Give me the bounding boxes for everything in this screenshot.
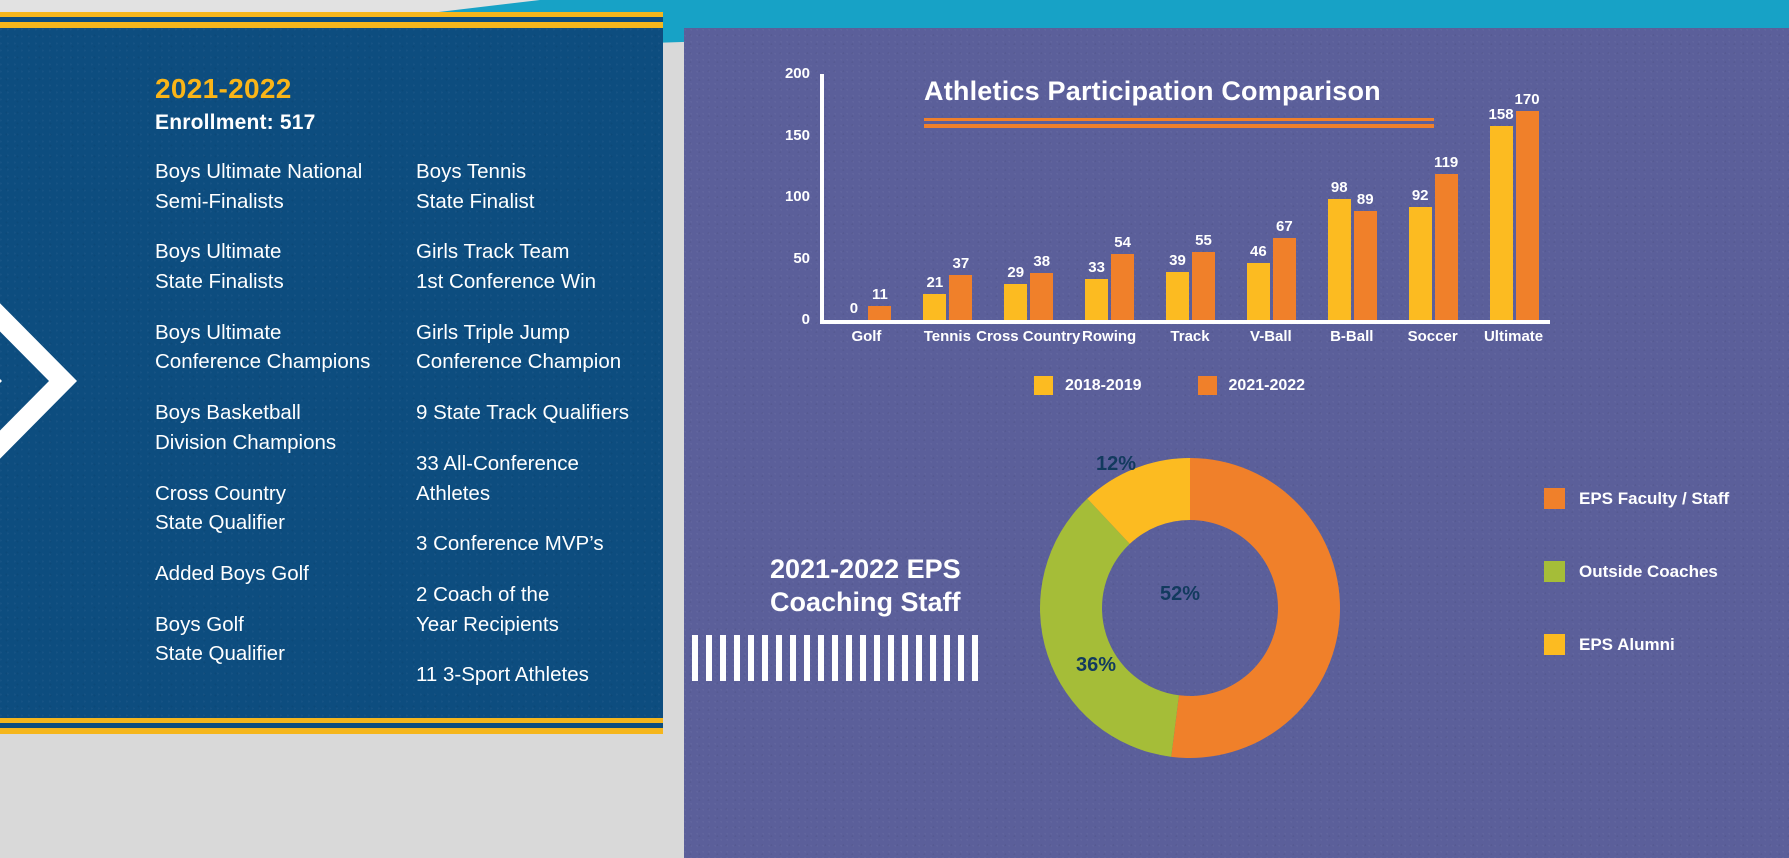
donut-legend-label: Outside Coaches <box>1579 562 1718 582</box>
bar: 67 <box>1273 238 1296 320</box>
bar-chart-legend: 2018-20192021-2022 <box>1034 376 1305 395</box>
achievement-right-item: Boys TennisState Finalist <box>416 157 645 216</box>
x-tick-label: Rowing <box>1082 328 1136 345</box>
bar-value-label: 170 <box>1515 91 1540 108</box>
bar-group: 3354 <box>1085 254 1134 320</box>
bar-value-label: 11 <box>872 286 888 303</box>
bar: 170 <box>1516 111 1539 320</box>
donut-slice <box>1171 458 1340 758</box>
bar-value-label: 46 <box>1250 243 1267 260</box>
donut-legend-label: EPS Faculty / Staff <box>1579 489 1729 509</box>
bar: 29 <box>1004 284 1027 320</box>
donut-percent-label: 36% <box>1076 654 1116 677</box>
bar-group: 011 <box>842 306 891 320</box>
legend-item: 2021-2022 <box>1198 376 1306 395</box>
x-tick-label: Ultimate <box>1484 328 1543 345</box>
bar: 55 <box>1192 252 1215 320</box>
achievements-column-right: Boys TennisState FinalistGirls Track Tea… <box>416 157 645 711</box>
x-tick-label: Cross Country <box>976 328 1080 345</box>
bar: 54 <box>1111 254 1134 320</box>
right-charts-panel: Athletics Participation Comparison 05010… <box>684 28 1789 858</box>
double-chevron-icon <box>0 276 120 486</box>
achievement-right-item: Girls Track Team1st Conference Win <box>416 237 645 296</box>
donut-legend-swatch <box>1544 488 1565 509</box>
achievements-columns: Boys Ultimate NationalSemi-FinalistsBoys… <box>155 157 645 711</box>
bar: 89 <box>1354 211 1377 320</box>
bar-group: 4667 <box>1247 238 1296 320</box>
bar: 11 <box>868 306 891 320</box>
bar-value-label: 119 <box>1434 154 1458 171</box>
bar-group: 2137 <box>923 275 972 321</box>
achievement-right-item: 33 All-ConferenceAthletes <box>416 449 645 508</box>
y-tick-label: 50 <box>764 250 810 267</box>
donut-chart: 2021-2022 EPSCoaching Staff 52%36%12% EP… <box>684 398 1789 858</box>
bar-value-label: 39 <box>1169 252 1186 269</box>
bar: 33 <box>1085 279 1108 320</box>
bar-value-label: 98 <box>1331 179 1348 196</box>
donut-svg <box>990 408 1390 808</box>
bar-value-label: 54 <box>1114 234 1131 251</box>
bar: 37 <box>949 275 972 321</box>
achievement-right-item: 3 Conference MVP’s <box>416 529 645 559</box>
bar: 21 <box>923 294 946 320</box>
achievement-right-item: 11 3-Sport Athletes <box>416 660 645 690</box>
bar: 39 <box>1166 272 1189 320</box>
donut-legend-item: Outside Coaches <box>1544 561 1729 582</box>
donut-percent-label: 12% <box>1096 453 1136 476</box>
donut-legend-label: EPS Alumni <box>1579 635 1675 655</box>
bar-value-label: 21 <box>926 274 943 291</box>
gold-rule-bottom <box>0 718 663 734</box>
donut-legend-item: EPS Alumni <box>1544 634 1729 655</box>
bar-plot-area: 01121372938335439554667988992119158170 <box>826 74 1554 320</box>
bar-value-label: 37 <box>952 255 969 272</box>
y-tick-label: 200 <box>764 65 810 82</box>
bar-group: 2938 <box>1004 273 1053 320</box>
bar: 119 <box>1435 174 1458 320</box>
achievement-left-item: Boys Ultimate NationalSemi-Finalists <box>155 157 384 216</box>
x-axis-line <box>820 320 1550 324</box>
legend-swatch <box>1198 376 1217 395</box>
achievement-left-item: Boys UltimateConference Champions <box>155 318 384 377</box>
bar-group: 158170 <box>1490 111 1539 320</box>
achievement-right-item: 2 Coach of theYear Recipients <box>416 580 645 639</box>
donut-legend-swatch <box>1544 634 1565 655</box>
achievement-left-item: Added Boys Golf <box>155 559 384 589</box>
x-tick-label: Soccer <box>1408 328 1458 345</box>
achievements-column-left: Boys Ultimate NationalSemi-FinalistsBoys… <box>155 157 384 711</box>
bar-group: 9889 <box>1328 199 1377 320</box>
achievement-left-item: Boys UltimateState Finalists <box>155 237 384 296</box>
bar-value-label: 55 <box>1195 232 1212 249</box>
x-tick-label: B-Ball <box>1330 328 1373 345</box>
left-achievements-panel: 2021-2022 Enrollment: 517 Boys Ultimate … <box>0 28 663 718</box>
donut-legend: EPS Faculty / StaffOutside CoachesEPS Al… <box>1544 488 1729 707</box>
bar-value-label: 67 <box>1276 218 1293 235</box>
bar: 38 <box>1030 273 1053 320</box>
gold-rule-top <box>0 12 663 28</box>
x-tick-label: V-Ball <box>1250 328 1292 345</box>
infographic-canvas: 2021-2022 Enrollment: 517 Boys Ultimate … <box>0 0 1789 858</box>
x-tick-label: Golf <box>851 328 881 345</box>
bar-group: 3955 <box>1166 252 1215 320</box>
donut-legend-item: EPS Faculty / Staff <box>1544 488 1729 509</box>
bar-value-label: 38 <box>1033 253 1050 270</box>
donut-chart-title: 2021-2022 EPSCoaching Staff <box>770 553 961 619</box>
bar: 92 <box>1409 207 1432 320</box>
achievement-left-item: Boys BasketballDivision Champions <box>155 398 384 457</box>
y-tick-label: 0 <box>764 311 810 328</box>
y-tick-label: 150 <box>764 127 810 144</box>
bar-chart: Athletics Participation Comparison 05010… <box>764 56 1764 416</box>
x-tick-label: Track <box>1170 328 1209 345</box>
decorative-stripes <box>692 635 982 681</box>
bar-group: 92119 <box>1409 174 1458 320</box>
enrollment-label: Enrollment: 517 <box>155 111 645 135</box>
achievement-left-item: Boys GolfState Qualifier <box>155 610 384 669</box>
bar-value-label: 33 <box>1088 259 1105 276</box>
achievement-left-item: Cross CountryState Qualifier <box>155 479 384 538</box>
achievement-right-item: Girls Triple JumpConference Champion <box>416 318 645 377</box>
bar-value-label: 29 <box>1007 264 1024 281</box>
achievement-right-item: 9 State Track Qualifiers <box>416 398 645 428</box>
page-title: 2021-2022 <box>155 74 645 105</box>
bar: 46 <box>1247 263 1270 320</box>
x-tick-label: Tennis <box>924 328 971 345</box>
donut-slice <box>1040 499 1179 757</box>
donut-percent-label: 52% <box>1160 583 1200 606</box>
legend-label: 2018-2019 <box>1065 377 1142 395</box>
bar-value-label: 89 <box>1357 191 1374 208</box>
donut-legend-swatch <box>1544 561 1565 582</box>
legend-swatch <box>1034 376 1053 395</box>
bar: 98 <box>1328 199 1351 320</box>
bar: 158 <box>1490 126 1513 320</box>
bar-value-label: 92 <box>1412 187 1429 204</box>
legend-item: 2018-2019 <box>1034 376 1142 395</box>
y-axis-line <box>820 74 824 324</box>
legend-label: 2021-2022 <box>1229 377 1306 395</box>
y-tick-label: 100 <box>764 188 810 205</box>
bar-value-label: 158 <box>1489 106 1514 123</box>
bar-value-label: 0 <box>850 300 858 317</box>
